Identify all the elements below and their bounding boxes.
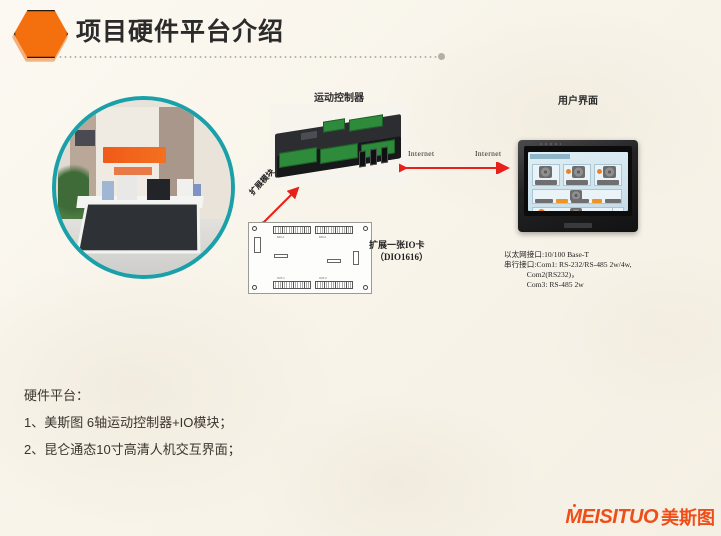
io-card-drawing: DIO-1 DIO-2 OUT-1 OUT-2 (248, 222, 372, 294)
footer-logo: MEISITUO 美斯图 (565, 504, 715, 530)
title-rule-end-dot-icon (438, 53, 445, 60)
internet-double-arrow-icon (399, 162, 515, 174)
body-item-1: 1、美斯图 6轴运动控制器+IO模块； (24, 409, 241, 436)
office-reception-photo (56, 100, 231, 275)
motion-controller-photo (271, 104, 409, 186)
title-dotted-rule (58, 56, 440, 58)
hmi-spec-text: 以太网接口:10/100 Base-T 串行接口:Com1: RS-232/RS… (504, 250, 632, 290)
hardware-platform-text: 硬件平台： 1、美斯图 6轴运动控制器+IO模块； 2、昆仑通态10寸高清人机交… (24, 382, 241, 463)
controller-label: 运动控制器 (314, 89, 364, 104)
monitor (147, 179, 170, 200)
body-item-2: 2、昆仑通态10寸高清人机交互界面； (24, 436, 241, 463)
hmi-label: 用户界面 (558, 92, 598, 107)
footer-logo-cjk: 美斯图 (661, 504, 715, 530)
wall-logo-cjk (114, 167, 153, 176)
slide-canvas: 项目硬件平台介绍 运动控制器 (0, 0, 721, 536)
internet-label-right: Internet (475, 149, 502, 158)
footer-logo-accent-dot-icon (573, 504, 576, 507)
wall-sign (75, 130, 94, 146)
wall-logo-latin (103, 147, 166, 163)
io-card-model-label: （DIO1616） (375, 250, 428, 263)
footer-logo-latin: MEISITUO (565, 506, 658, 528)
reception-desk (75, 202, 200, 253)
body-heading: 硬件平台： (24, 382, 241, 409)
page-title: 项目硬件平台介绍 (76, 12, 284, 48)
hmi-screen (528, 152, 628, 211)
internet-label-left: Internet (408, 149, 435, 158)
hmi-touch-panel (518, 140, 638, 232)
